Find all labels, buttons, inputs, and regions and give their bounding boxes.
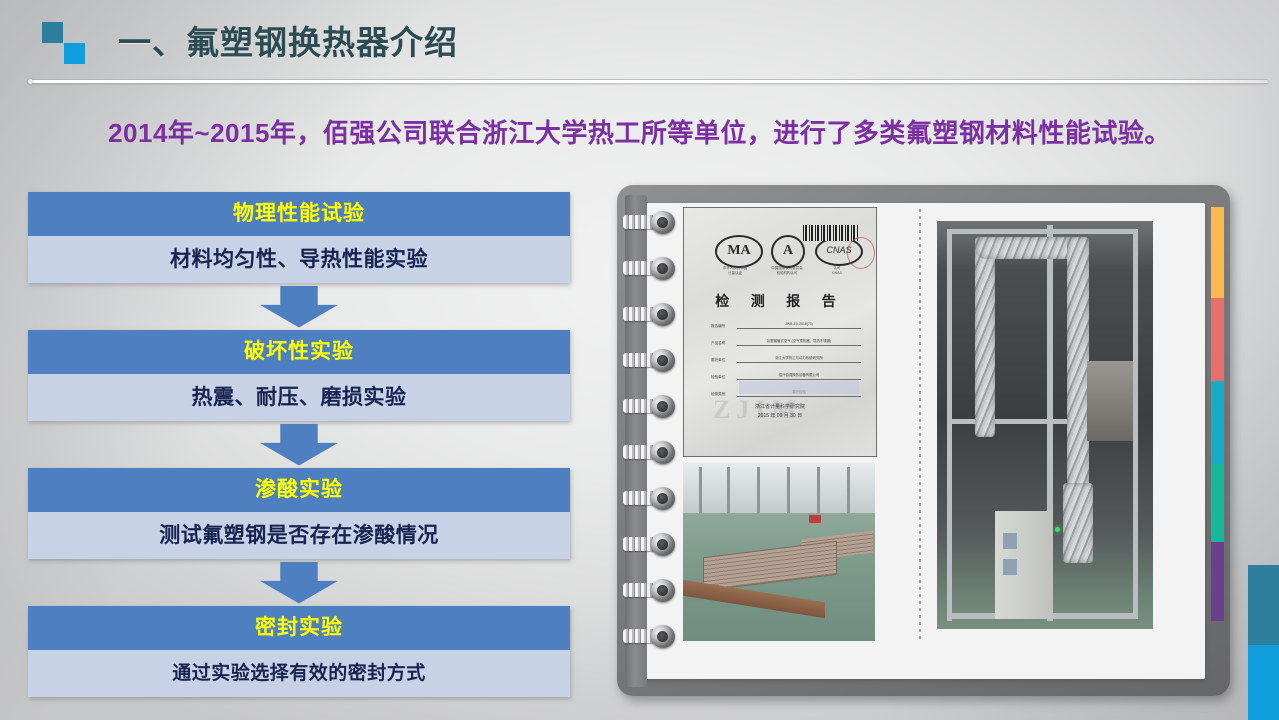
certificate-row-label: 报告编号 — [711, 323, 737, 329]
spiral-ring — [623, 579, 675, 602]
flow-step-3-title: 渗酸实验 — [28, 468, 570, 512]
header-square-dark-icon — [42, 22, 63, 43]
certificate-footer-org: 浙江省计量科学研究院 — [755, 404, 805, 410]
certificate-row-value: JWB-ZD-2015(73) — [737, 321, 861, 329]
spiral-ring — [623, 441, 675, 464]
header-divider — [28, 80, 1268, 83]
certificate-row-label: 检验单位 — [711, 374, 737, 380]
a-logo-icon: A — [771, 235, 805, 268]
color-strip — [1211, 207, 1224, 621]
ma-logo-icon: MA — [715, 235, 763, 268]
flow-arrow-3 — [28, 559, 570, 606]
spiral-ring — [623, 625, 675, 648]
flow-step-4: 密封实验 通过实验选择有效的密封方式 — [28, 606, 570, 697]
color-strip-segment-4 — [1211, 464, 1224, 543]
spiral-ring — [623, 303, 675, 326]
certificate-row-label: 委托单位 — [711, 357, 737, 363]
certificate-barcode — [803, 225, 859, 241]
corner-accent-dark — [1248, 565, 1279, 645]
certificate-logos: MA A CNAS 中华人民共和国计量认证 中国国家认可委员会检验机构认可 认可… — [711, 235, 861, 281]
flow-step-2-desc: 热震、耐压、磨损实验 — [28, 374, 570, 421]
spiral-ring — [623, 211, 675, 234]
flow-step-2: 破坏性实验 热震、耐压、磨损实验 — [28, 330, 570, 421]
certificate-title: 检 测 报 告 — [689, 291, 871, 311]
certificate-row: 报告编号 JWB-ZD-2015(73) — [711, 321, 861, 329]
ma-logo-caption: 中华人民共和国计量认证 — [711, 266, 759, 275]
notebook-spiral-rings — [617, 211, 677, 681]
notebook-column-divider — [919, 209, 921, 639]
flow-step-1: 物理性能试验 材料均匀性、导热性能实验 — [28, 192, 570, 283]
photo-factory-workshop — [683, 463, 875, 641]
arrow-down-icon — [260, 424, 338, 466]
spiral-ring — [623, 395, 675, 418]
notebook-photo-panel: MA A CNAS 中华人民共和国计量认证 中国国家认可委员会检验机构认可 认可… — [617, 185, 1230, 696]
flow-arrow-2 — [28, 421, 570, 468]
flow-step-1-title: 物理性能试验 — [28, 192, 570, 236]
spiral-ring — [623, 349, 675, 372]
arrow-down-icon — [260, 562, 338, 604]
spiral-ring — [623, 533, 675, 556]
process-flow-diagram: 物理性能试验 材料均匀性、导热性能实验 破坏性实验 热震、耐压、磨损实验 渗酸实… — [28, 192, 570, 697]
photo-heat-exchanger-test-rig — [937, 221, 1153, 629]
cnas-logo-caption: 认可CNAS — [813, 266, 861, 275]
certificate-footer-date: 2015 年 09 月 30 日 — [758, 413, 802, 419]
certificate-footer: 浙江省计量科学研究院 2015 年 09 月 30 日 — [689, 403, 871, 421]
certificate-row: 委托单位 浙江大学热工与动力系统研究所 — [711, 355, 861, 363]
color-strip-segment-5 — [1211, 542, 1224, 621]
flow-arrow-1 — [28, 283, 570, 330]
certificate-row: 产品名称 氟塑钢管式空气 (空气预热器、导热不锈钢) — [711, 338, 861, 346]
a-logo-caption: 中国国家认可委员会检验机构认可 — [763, 266, 811, 275]
certificate-row-value: 氟塑钢管式空气 (空气预热器、导热不锈钢) — [737, 338, 861, 346]
subtitle-text: 2014年~2015年，佰强公司联合浙江大学热工所等单位，进行了多类氟塑钢材料性… — [0, 113, 1279, 150]
certificate-row-value: 浙江大学热工与动力系统研究所 — [737, 355, 861, 363]
flow-step-4-desc: 通过实验选择有效的密封方式 — [28, 650, 570, 697]
flow-step-3: 渗酸实验 测试氟塑钢是否存在渗酸情况 — [28, 468, 570, 559]
certificate-row: 检验单位 绍兴佰强换热设备有限公司 — [711, 372, 861, 380]
flow-step-4-title: 密封实验 — [28, 606, 570, 650]
header-divider-endcap-icon — [28, 79, 33, 84]
spiral-ring — [623, 487, 675, 510]
flow-step-2-title: 破坏性实验 — [28, 330, 570, 374]
color-strip-segment-1 — [1211, 207, 1224, 298]
corner-accent-bar — [1248, 565, 1279, 720]
certificate-row-value: 绍兴佰强换热设备有限公司 — [737, 372, 861, 380]
header-square-light-icon — [64, 43, 85, 64]
color-strip-segment-3 — [1211, 381, 1224, 464]
corner-accent-light — [1248, 645, 1279, 720]
flow-step-1-desc: 材料均匀性、导热性能实验 — [28, 236, 570, 283]
certificate-highlight-band — [739, 381, 859, 394]
page-title: 一、氟塑钢换热器介绍 — [118, 16, 458, 64]
flow-step-3-desc: 测试氟塑钢是否存在渗酸情况 — [28, 512, 570, 559]
certificate-row-label: 产品名称 — [711, 340, 737, 346]
photo-test-report-certificate: MA A CNAS 中华人民共和国计量认证 中国国家认可委员会检验机构认可 认可… — [683, 207, 877, 457]
slide-canvas: 一、氟塑钢换热器介绍 2014年~2015年，佰强公司联合浙江大学热工所等单位，… — [0, 0, 1279, 720]
certificate-red-stamp — [847, 237, 875, 269]
notebook-content: MA A CNAS 中华人民共和国计量认证 中国国家认可委员会检验机构认可 认可… — [669, 201, 1161, 645]
spiral-ring — [623, 257, 675, 280]
arrow-down-icon — [260, 286, 338, 328]
color-strip-segment-2 — [1211, 298, 1224, 381]
